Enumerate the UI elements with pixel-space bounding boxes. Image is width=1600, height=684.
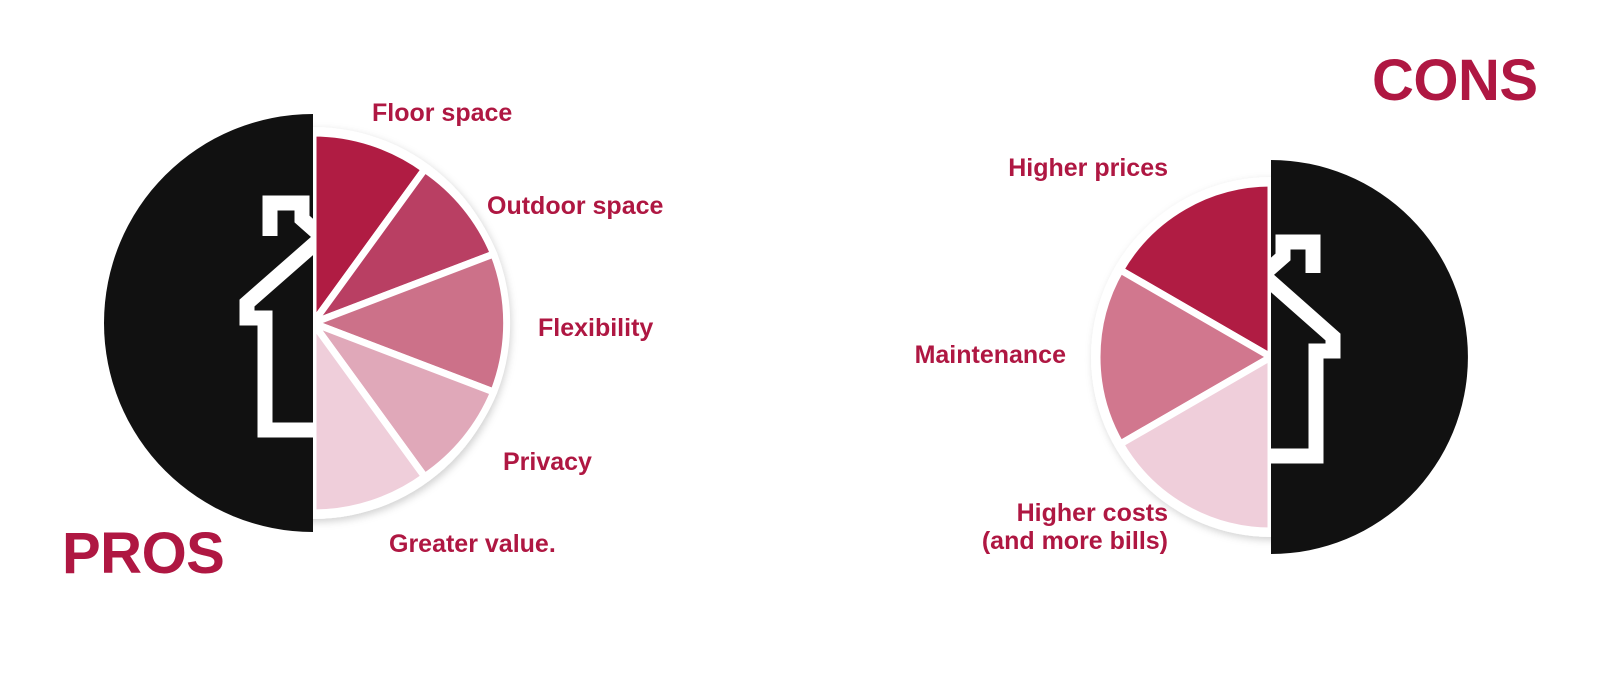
cons-black-half-disc (1271, 160, 1468, 554)
pros-heading: PROS (62, 525, 224, 583)
pros-label-greater-value: Greater value. (389, 530, 556, 558)
pros-slices (313, 133, 507, 513)
cons-slices (1097, 183, 1271, 531)
pros-label-flexibility: Flexibility (538, 314, 653, 342)
infographic-canvas: PROS Floor space Outdoor space Flexibili… (0, 0, 1600, 684)
pros-chart-group (80, 100, 540, 580)
pros-label-floor-space: Floor space (372, 99, 512, 127)
cons-heading: CONS (1372, 52, 1538, 110)
pros-label-outdoor-space: Outdoor space (487, 192, 663, 220)
cons-label-maintenance: Maintenance (800, 341, 1066, 369)
pros-pie-svg (80, 100, 540, 580)
pros-black-half-disc (104, 114, 313, 532)
cons-label-higher-prices: Higher prices (896, 154, 1168, 182)
cons-label-higher-costs: Higher costs (and more bills) (860, 499, 1168, 555)
pros-label-privacy: Privacy (503, 448, 592, 476)
